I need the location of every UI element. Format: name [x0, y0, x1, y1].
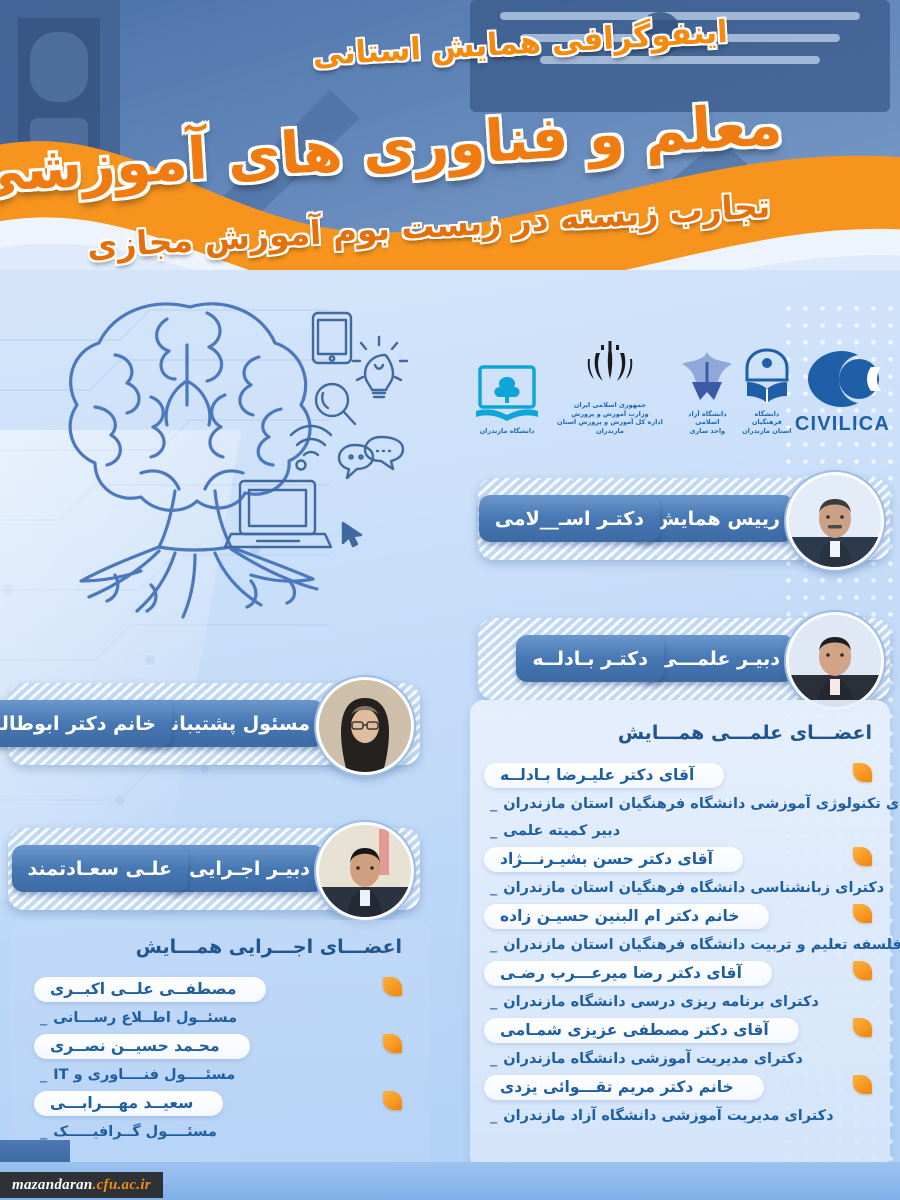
- member-name-pill: سعیــد مهـــرابـــی: [34, 1091, 223, 1116]
- farhangian-university-logo[interactable]: دانشگاه فرهنگیان استان مازندران: [739, 318, 795, 436]
- list-item[interactable]: آقای دکتر رضا میرعـــرب رضـی دکترای برنا…: [484, 958, 876, 1015]
- poster-header: اینفوگرافی همایش استانی معلم و فناوری ها…: [0, 0, 900, 270]
- member-name-pill: محـمد حسیــن نصــری: [34, 1034, 250, 1059]
- role-label: دبیـر اجـرایی:: [167, 845, 324, 892]
- support-manager-avatar: [316, 677, 414, 775]
- laptop-icon: [225, 481, 331, 547]
- leaf-marker-icon: [853, 961, 872, 980]
- poster-root: اینفوگرافی همایش استانی معلم و فناوری ها…: [0, 0, 900, 1200]
- farhangian-university-caption: دانشگاه فرهنگیان استان مازندران: [739, 410, 795, 436]
- member-name-pill: آقای دکتر مصطفی عزیزی شمـامی: [484, 1018, 799, 1043]
- footer-url: mazandaran.cfu.ac.ir: [12, 1177, 151, 1194]
- person-name: خانم دکتر ابوطالبی: [0, 700, 172, 747]
- leaf-marker-icon: [383, 1091, 402, 1110]
- scientific-committee-panel: اعضـــای علمـــی همـــایش آقای دکتر علیـ…: [470, 700, 890, 1170]
- person-name: دکتـر اسـ__لامی: [479, 495, 660, 542]
- member-description: مسئــــول فنــــاوری و IT_: [34, 1061, 406, 1088]
- header-kicker: اینفوگرافی همایش استانی: [312, 14, 729, 73]
- leaf-marker-icon: [383, 977, 402, 996]
- chair-avatar: [786, 472, 884, 570]
- member-description: دکترای برنامه ریزی درسی دانشگاه مازندران…: [484, 988, 876, 1015]
- person-card-scientific-secretary[interactable]: دبیـر علمـــی: دکتـر بـادلــه: [478, 618, 890, 700]
- lightbulb-icon: [353, 337, 407, 397]
- member-name-pill: خانم دکتر مریم تقـــوائی یزدی: [484, 1075, 764, 1100]
- list-item[interactable]: آقای دکتر علیـرضا بـادلــه دکترای تکنولو…: [484, 760, 876, 844]
- page-title: معلم و فناوری های آموزشی: [0, 90, 784, 206]
- executive-secretary-avatar: [316, 822, 414, 920]
- leaf-marker-icon: [853, 904, 872, 923]
- list-item[interactable]: آقای دکتر مصطفی عزیزی شمـامی دکترای مدیر…: [484, 1015, 876, 1072]
- leaf-marker-icon: [853, 763, 872, 782]
- executive-committee-title: اعضـــای اجـــرایی همـــایش: [136, 936, 402, 958]
- member-name-pill: مصطفــی علــی اکبــری: [34, 977, 266, 1002]
- leaf-marker-icon: [383, 1034, 402, 1053]
- list-item[interactable]: خانم دکتر ام البنین حسیـن زاده دکترای فل…: [484, 901, 876, 958]
- leaf-marker-icon: [853, 1018, 872, 1037]
- member-description: دکترای زبانشناسی دانشگاه فرهنگیان استان …: [484, 874, 876, 901]
- executive-committee-panel: اعضـــای اجـــرایی همـــایش مصطفــی علــ…: [10, 920, 430, 1170]
- person-card-conference-chair[interactable]: رییس همایش: دکتـر اسـ__لامی: [478, 478, 890, 560]
- page-subtitle: تجارب زیسته در زیست بوم آموزش مجازی: [86, 186, 771, 265]
- member-description: دکترای مدیریت آموزشی دانشگاه مازندران_: [484, 1045, 876, 1072]
- scientific-committee-list: آقای دکتر علیـرضا بـادلــه دکترای تکنولو…: [484, 760, 876, 1129]
- civilica-logo[interactable]: CIVILICA: [795, 318, 890, 436]
- list-item[interactable]: مصطفــی علــی اکبــری مسئــول اطــلاع رس…: [34, 974, 406, 1031]
- ministry-of-education-caption: جمهوری اسلامی ایران وزارت آموزش و پرورش …: [544, 401, 676, 436]
- scientific-committee-title: اعضـــای علمـــی همـــایش: [618, 722, 872, 744]
- person-card-executive-secretary[interactable]: دبیـر اجـرایی: علـی سعـادتمند: [8, 828, 420, 910]
- member-name-pill: آقای دکتر علیـرضا بـادلــه: [484, 763, 724, 788]
- list-item[interactable]: محـمد حسیــن نصــری مسئــــول فنــــاوری…: [34, 1031, 406, 1088]
- brain-tree-illustration: [55, 285, 465, 630]
- logo-row: CIVILICA دانشگاه فرهنگیان استان مازندران…: [470, 318, 890, 436]
- tablet-icon: [313, 313, 351, 363]
- person-card-support-manager[interactable]: مسئول پشتیبانی: خانم دکتر ابوطالبی: [8, 683, 420, 765]
- footer-url-tab[interactable]: mazandaran.cfu.ac.ir: [0, 1172, 163, 1198]
- footer-left-block: [0, 1140, 70, 1162]
- mazandaran-university-caption: دانشگاه مازندران: [480, 427, 535, 436]
- magnifier-icon: [316, 384, 355, 424]
- list-item[interactable]: آقای دکتر حسن بشیـرنـــژاد دکترای زبانشن…: [484, 844, 876, 901]
- civilica-wordmark: CIVILICA: [795, 413, 890, 436]
- cursor-icon: [343, 523, 361, 546]
- leaf-marker-icon: [853, 847, 872, 866]
- member-description: دکترای فلسفه تعلیم و تربیت دانشگاه فرهنگ…: [484, 931, 876, 958]
- member-description: دکترای مدیریت آموزشی دانشگاه آزاد مازندر…: [484, 1102, 876, 1129]
- member-description: مسئــول اطــلاع رســـانی_: [34, 1004, 406, 1031]
- person-name: علـی سعـادتمند: [12, 845, 188, 892]
- member-name-pill: خانم دکتر ام البنین حسیـن زاده: [484, 904, 769, 929]
- ministry-of-education-logo[interactable]: جمهوری اسلامی ایران وزارت آموزش و پرورش …: [544, 318, 676, 436]
- leaf-marker-icon: [853, 1075, 872, 1094]
- mazandaran-university-logo[interactable]: دانشگاه مازندران: [470, 318, 544, 436]
- member-description: دکترای تکنولوژی آموزشی دانشگاه فرهنگیان …: [484, 790, 876, 817]
- list-item[interactable]: سعیــد مهـــرابـــی مسئــــول گــرافیـــ…: [34, 1088, 406, 1145]
- islamic-azad-university-logo[interactable]: دانشگاه آزاد اسلامی واحد ساری: [676, 318, 739, 436]
- member-name-pill: آقای دکتر رضا میرعـــرب رضـی: [484, 961, 772, 986]
- person-name: دکتـر بـادلــه: [516, 635, 664, 682]
- executive-committee-list: مصطفــی علــی اکبــری مسئــول اطــلاع رس…: [34, 974, 406, 1145]
- header-text-group: اینفوگرافی همایش استانی معلم و فناوری ها…: [0, 0, 900, 270]
- member-name-pill: آقای دکتر حسن بشیـرنـــژاد: [484, 847, 743, 872]
- chat-bubbles-icon: [339, 437, 403, 478]
- member-description: مسئــــول گــرافیـــــک_: [34, 1118, 406, 1145]
- member-description-secondary: دبیر کمیته علمی_: [484, 817, 876, 844]
- islamic-azad-university-caption: دانشگاه آزاد اسلامی واحد ساری: [676, 410, 739, 436]
- scientific-secretary-avatar: [786, 612, 884, 710]
- list-item[interactable]: خانم دکتر مریم تقـــوائی یزدی دکترای مدی…: [484, 1072, 876, 1129]
